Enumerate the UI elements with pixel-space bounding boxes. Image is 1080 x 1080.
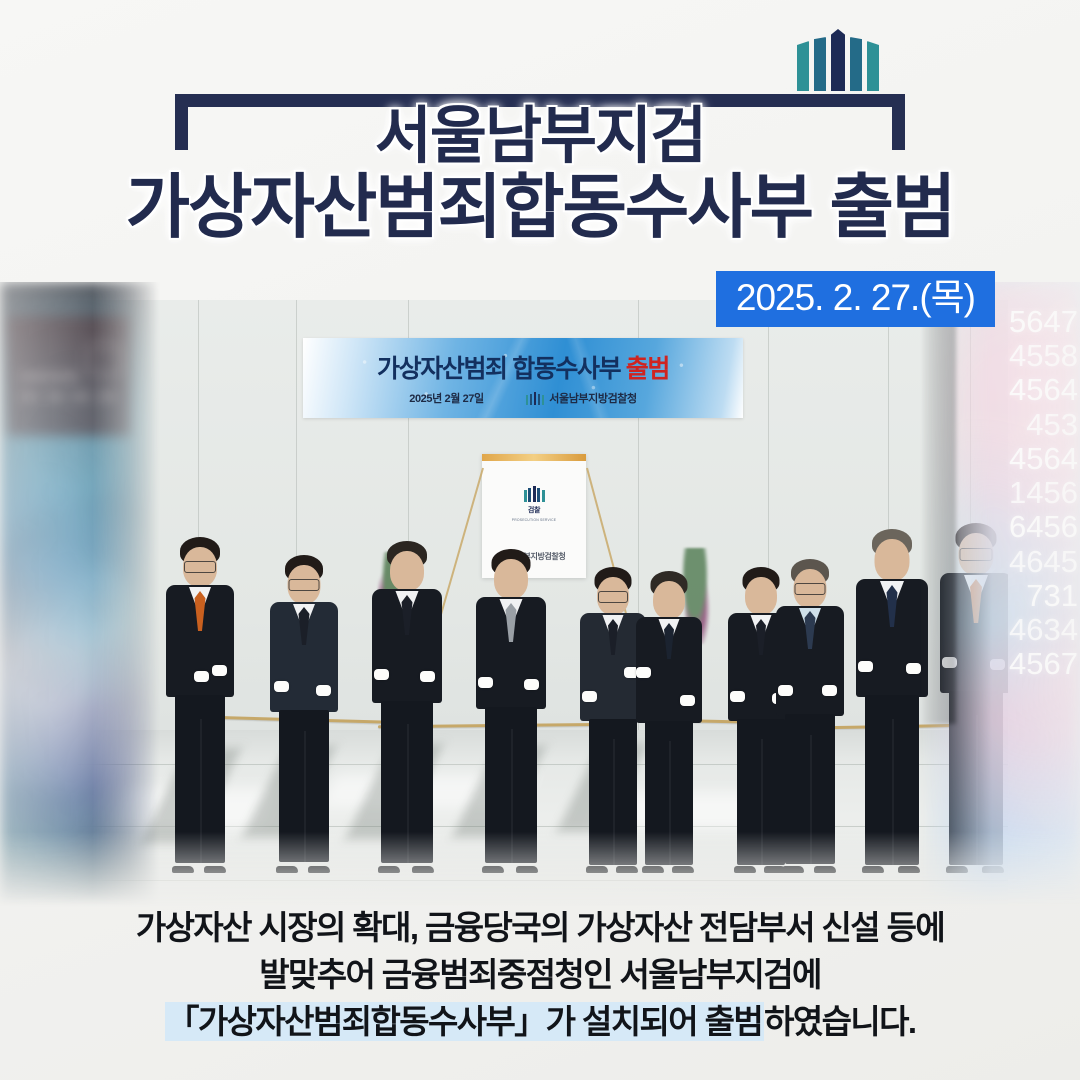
shoe [378, 866, 400, 873]
banner-org: 서울남부지방검찰청 [526, 390, 637, 406]
logo-bar-4 [850, 37, 862, 91]
ceremony-participant [164, 537, 236, 867]
ceremony-banner: 가상자산범죄 합동수사부 출범 2025년 2월 27일 서울남부지방검찰청 [303, 338, 743, 418]
head [653, 581, 685, 619]
glasses-icon [795, 583, 826, 595]
legs [645, 721, 693, 865]
date-badge: 2025. 2. 27.(목) [716, 271, 995, 327]
prosecution-bars-icon [524, 486, 545, 502]
banner-title: 가상자산범죄 합동수사부 출범 [303, 349, 743, 385]
screen-tick [20, 394, 38, 399]
legs [865, 695, 919, 865]
white-glove [478, 677, 493, 688]
legs [785, 714, 835, 864]
ticker-number: 731 [1026, 580, 1078, 612]
legs [175, 695, 225, 863]
ticker-number: 5647 [1009, 306, 1078, 338]
plaque-logo-en: PROSECUTION SERVICE [512, 518, 556, 522]
shoe [516, 866, 538, 873]
shoe [814, 866, 836, 873]
prosecution-service-bars-logo [797, 29, 879, 91]
title-line-2: 가상자산범죄합동수사부 출범 [0, 171, 1080, 245]
ceremony-participant [854, 529, 930, 867]
plaque-gold-bar [482, 454, 586, 461]
logo-bar-5 [867, 41, 879, 91]
white-glove [374, 669, 389, 680]
shoe [642, 866, 664, 873]
ceremony-participant [370, 541, 444, 867]
shoe [734, 866, 756, 873]
plaque-logo: 검찰 PROSECUTION SERVICE [482, 486, 586, 522]
ceremony-room: 가상자산범죄 합동수사부 출범 2025년 2월 27일 서울남부지방검찰청 [78, 300, 1008, 907]
white-glove [858, 661, 873, 672]
shoe [172, 866, 194, 873]
shoe [308, 866, 330, 873]
ceremony-participant [474, 549, 548, 867]
screen-tick [20, 374, 78, 379]
caption-highlight: 「가상자산범죄합동수사부」가 설치되어 출범 [165, 1002, 765, 1041]
banner-title-accent: 출범 [626, 355, 669, 383]
head [390, 551, 424, 591]
white-glove [822, 685, 837, 696]
banner-subline: 2025년 2월 27일 서울남부지방검찰청 [303, 390, 743, 406]
banner-title-main: 가상자산범죄 합동수사부 [377, 355, 626, 383]
shoe [862, 866, 884, 873]
prosecution-bars-icon [526, 392, 545, 405]
shoe [782, 866, 804, 873]
page-title: 서울남부지검 가상자산범죄합동수사부 출범 [0, 104, 1080, 245]
screen-tick [98, 394, 116, 399]
ticker-number: 453 [1026, 409, 1078, 441]
plaque-logo-ko: 검찰 [528, 505, 540, 515]
ticker-number: 4645 [1009, 546, 1078, 578]
legs [485, 707, 537, 863]
shoe [276, 866, 298, 873]
legs [279, 710, 329, 862]
caption-line-1: 가상자산 시장의 확대, 금융당국의 가상자산 전담부서 신설 등에 [0, 905, 1080, 952]
white-glove [636, 667, 651, 678]
shoe [204, 866, 226, 873]
white-glove [906, 663, 921, 674]
caption-line-3-tail: 하였습니다. [764, 1003, 915, 1040]
ticker-number: 4564 [1009, 443, 1078, 475]
right-number-ticker-overlay: 5647455845644534564145664564645731463445… [920, 282, 1080, 907]
ceremony-participant [268, 555, 340, 867]
shoe [898, 866, 920, 873]
ticker-number: 6456 [1009, 511, 1078, 543]
screen-tick [46, 394, 64, 399]
ceremony-participant [634, 571, 704, 867]
launch-ceremony-photo: 가상자산범죄 합동수사부 출범 2025년 2월 27일 서울남부지방검찰청 [0, 282, 1080, 907]
head [875, 539, 910, 581]
logo-bar-2 [814, 37, 826, 91]
ceremony-participant [774, 559, 846, 867]
white-glove [212, 665, 227, 676]
shoe [616, 866, 638, 873]
announcement-card: 서울남부지검 가상자산범죄합동수사부 출범 2025. 2. 27.(목) 가상… [0, 0, 1080, 1080]
glasses-icon [598, 591, 628, 603]
white-glove [316, 685, 331, 696]
banner-org-label: 서울남부지방검찰청 [549, 390, 636, 406]
ticker-number: 1456 [1009, 477, 1078, 509]
white-glove [680, 695, 695, 706]
glasses-icon [184, 561, 216, 573]
title-line-1: 서울남부지검 [0, 104, 1080, 169]
shoe [586, 866, 608, 873]
ticker-number: 4634 [1009, 614, 1078, 646]
white-glove [730, 691, 745, 702]
white-glove [524, 679, 539, 690]
caption-line-2: 발맞추어 금융범죄중점청인 서울남부지검에 [0, 952, 1080, 999]
shoe [672, 866, 694, 873]
screen-box [88, 344, 122, 376]
ticker-number: 4564 [1009, 374, 1078, 406]
logo-bar-3 [831, 29, 845, 91]
white-glove [194, 671, 209, 682]
shoe [482, 866, 504, 873]
legs [381, 701, 433, 863]
caption-line-3: 「가상자산범죄합동수사부」가 설치되어 출범하였습니다. [0, 999, 1080, 1046]
head [494, 559, 528, 599]
caption-block: 가상자산 시장의 확대, 금융당국의 가상자산 전담부서 신설 등에 발맞추어 … [0, 905, 1080, 1046]
screen-tick [72, 394, 90, 399]
white-glove [778, 685, 793, 696]
shoe [412, 866, 434, 873]
white-glove [420, 671, 435, 682]
ticker-number: 4558 [1009, 340, 1078, 372]
ticker-number-list: 5647455845644534564145664564645731463445… [920, 306, 1080, 681]
head [745, 577, 777, 615]
logo-bar-1 [797, 41, 809, 91]
white-glove [274, 681, 289, 692]
left-bokeh-overlay [0, 282, 160, 907]
ticker-number: 4567 [1009, 648, 1078, 680]
white-glove [582, 691, 597, 702]
legs [589, 719, 637, 865]
blurred-screen [6, 316, 132, 436]
floor-line [78, 880, 1008, 881]
banner-date: 2025년 2월 27일 [409, 390, 484, 406]
glasses-icon [289, 579, 320, 591]
